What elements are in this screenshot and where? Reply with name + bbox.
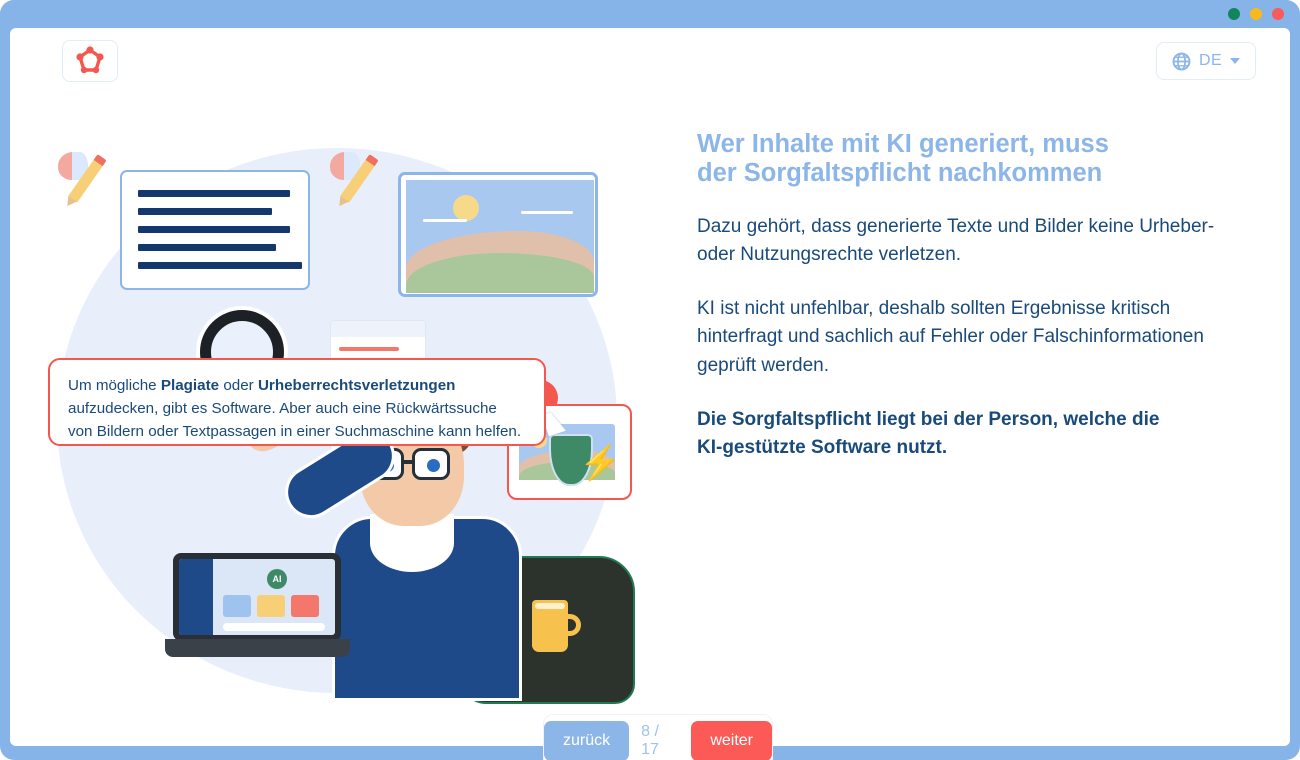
window-title-bar [0, 0, 1300, 28]
app-window: DE [0, 0, 1300, 760]
paragraph-list: Dazu gehört, dass generierte Texte und B… [697, 213, 1237, 462]
page-counter: 8 / 17 [641, 723, 679, 759]
minimize-dot[interactable] [1228, 8, 1240, 20]
ai-badge: AI [267, 569, 287, 589]
body-paragraph-1: Dazu gehört, dass generierte Texte und B… [697, 213, 1219, 269]
callout-run-4: aufzudecken, gibt es Software. Aber auch… [68, 400, 521, 440]
content-panel: Wer Inhalte mit KI generiert, muss der S… [697, 108, 1237, 668]
body-paragraph-2: KI ist nicht unfehlbar, deshalb sollten … [697, 295, 1219, 379]
next-button[interactable]: weiter [691, 721, 772, 760]
callout-run-0: Um mögliche [68, 377, 161, 394]
callout-run-1: Plagiate [161, 377, 219, 394]
text-document-bubble [120, 170, 310, 290]
body-paragraph-3: Die Sorgfaltspflicht liegt bei der Perso… [697, 406, 1177, 462]
network-graph-logo-icon [75, 46, 105, 76]
laptop-with-ai-badge: AI [165, 553, 350, 663]
brain-pencil-icon-2 [330, 152, 360, 180]
globe-icon [1172, 52, 1191, 71]
generated-image-bubble [398, 172, 598, 297]
maximize-dot[interactable] [1250, 8, 1262, 20]
callout-run-3: Urheberrechtsverletzungen [258, 377, 456, 394]
back-button[interactable]: zurück [544, 721, 629, 760]
app-logo[interactable] [62, 40, 118, 82]
callout-text: Um mögliche Plagiate oder Urheberrechtsv… [68, 374, 522, 443]
brain-pencil-icon [58, 152, 88, 180]
page-title: Wer Inhalte mit KI generiert, muss der S… [697, 130, 1127, 187]
illustration-panel: i ⚡ [30, 108, 660, 668]
language-label: DE [1199, 52, 1222, 70]
language-switcher[interactable]: DE [1156, 42, 1256, 80]
coffee-mug [532, 600, 568, 652]
close-dot[interactable] [1272, 8, 1284, 20]
page-surface: DE [10, 28, 1290, 746]
slide-navigation: zurück 8 / 17 weiter [543, 714, 773, 760]
window-controls [1228, 8, 1284, 20]
callout-tooltip: Um mögliche Plagiate oder Urheberrechtsv… [48, 358, 546, 446]
chevron-down-icon [1230, 58, 1240, 64]
callout-run-2: oder [219, 377, 258, 394]
